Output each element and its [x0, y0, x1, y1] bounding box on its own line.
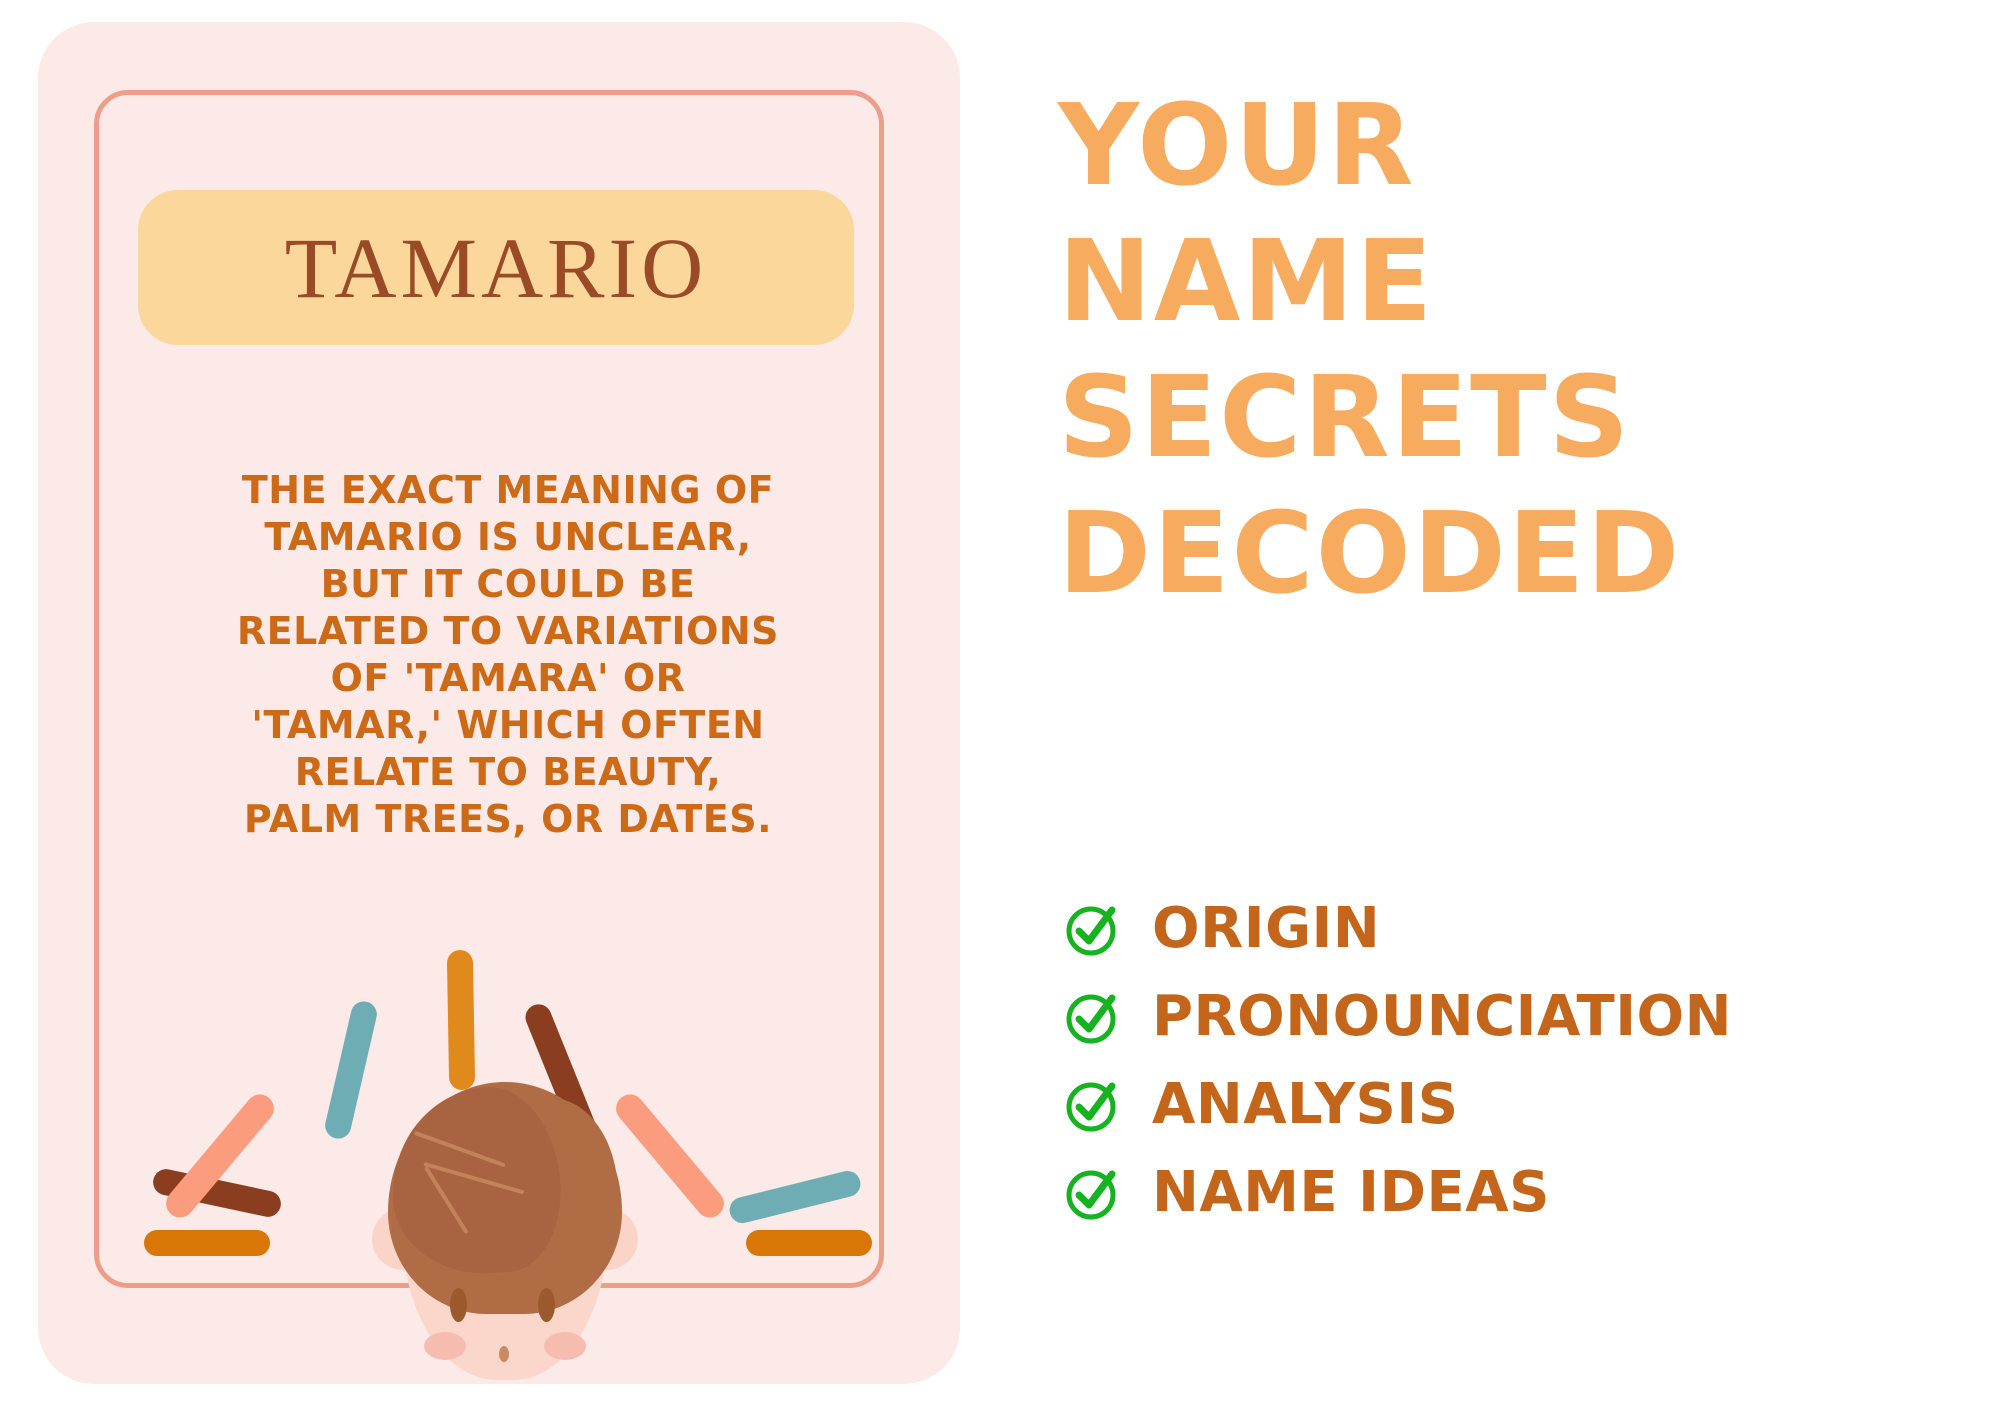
page-title: TAMARIO — [285, 225, 707, 311]
checklist-item-analysis[interactable]: ANALYSIS — [1064, 1061, 1964, 1149]
headline: YOUR NAME SECRETS DECODED — [1058, 78, 1681, 622]
cheek-right — [544, 1332, 586, 1360]
eye-left — [450, 1288, 467, 1322]
checklist-item-name-ideas[interactable]: NAME IDEAS — [1064, 1149, 1964, 1237]
check-circle-icon — [1064, 988, 1122, 1046]
headline-line: DECODED — [1058, 486, 1681, 622]
headline-line: SECRETS — [1058, 350, 1681, 486]
ray-teal-upper-left — [323, 999, 380, 1141]
eye-right — [538, 1288, 555, 1322]
checklist-item-label: ANALYSIS — [1152, 1077, 1459, 1133]
meaning-line: THE EXACT MEANING OF — [178, 467, 838, 514]
meaning-line: PALM TREES, OR DATES. — [178, 796, 838, 843]
check-circle-icon — [1064, 1164, 1122, 1222]
checklist-item-pronounciation[interactable]: PRONOUNCIATION — [1064, 973, 1964, 1061]
ray-teal-right — [727, 1168, 863, 1226]
checklist-item-label: ORIGIN — [1152, 901, 1380, 957]
ray-orange-left-flat — [144, 1230, 270, 1256]
checklist-item-label: NAME IDEAS — [1152, 1165, 1550, 1221]
cheek-left — [424, 1332, 466, 1360]
meaning-line: RELATE TO BEAUTY, — [178, 749, 838, 796]
ray-orange-top — [447, 950, 475, 1090]
checklist-item-label: PRONOUNCIATION — [1152, 989, 1732, 1045]
mouth — [480, 1370, 538, 1384]
checklist-item-origin[interactable]: ORIGIN — [1064, 885, 1964, 973]
ray-orange-right-flat — [746, 1230, 872, 1256]
check-circle-icon — [1064, 900, 1122, 958]
meaning-line: 'TAMAR,' WHICH OFTEN — [178, 702, 838, 749]
feature-checklist: ORIGIN PRONOUNCIATION ANALYSIS — [1064, 885, 1964, 1237]
name-info-card: TAMARIO THE EXACT MEANING OF TAMARIO IS … — [38, 22, 960, 1384]
meaning-line: OF 'TAMARA' OR — [178, 655, 838, 702]
check-circle-icon — [1064, 1076, 1122, 1134]
nose — [499, 1346, 509, 1362]
headline-line: YOUR — [1058, 78, 1681, 214]
meaning-line: RELATED TO VARIATIONS — [178, 608, 838, 655]
meaning-line: BUT IT COULD BE — [178, 561, 838, 608]
right-panel: YOUR NAME SECRETS DECODED ORIGIN PRONOUN… — [1040, 0, 1980, 1414]
meaning-line: TAMARIO IS UNCLEAR, — [178, 514, 838, 561]
name-title-pill: TAMARIO — [138, 190, 854, 345]
headline-line: NAME — [1058, 214, 1681, 350]
child-face — [380, 1082, 630, 1384]
child-face-with-rays-illustration — [148, 912, 868, 1384]
name-meaning-text: THE EXACT MEANING OF TAMARIO IS UNCLEAR,… — [178, 467, 838, 843]
